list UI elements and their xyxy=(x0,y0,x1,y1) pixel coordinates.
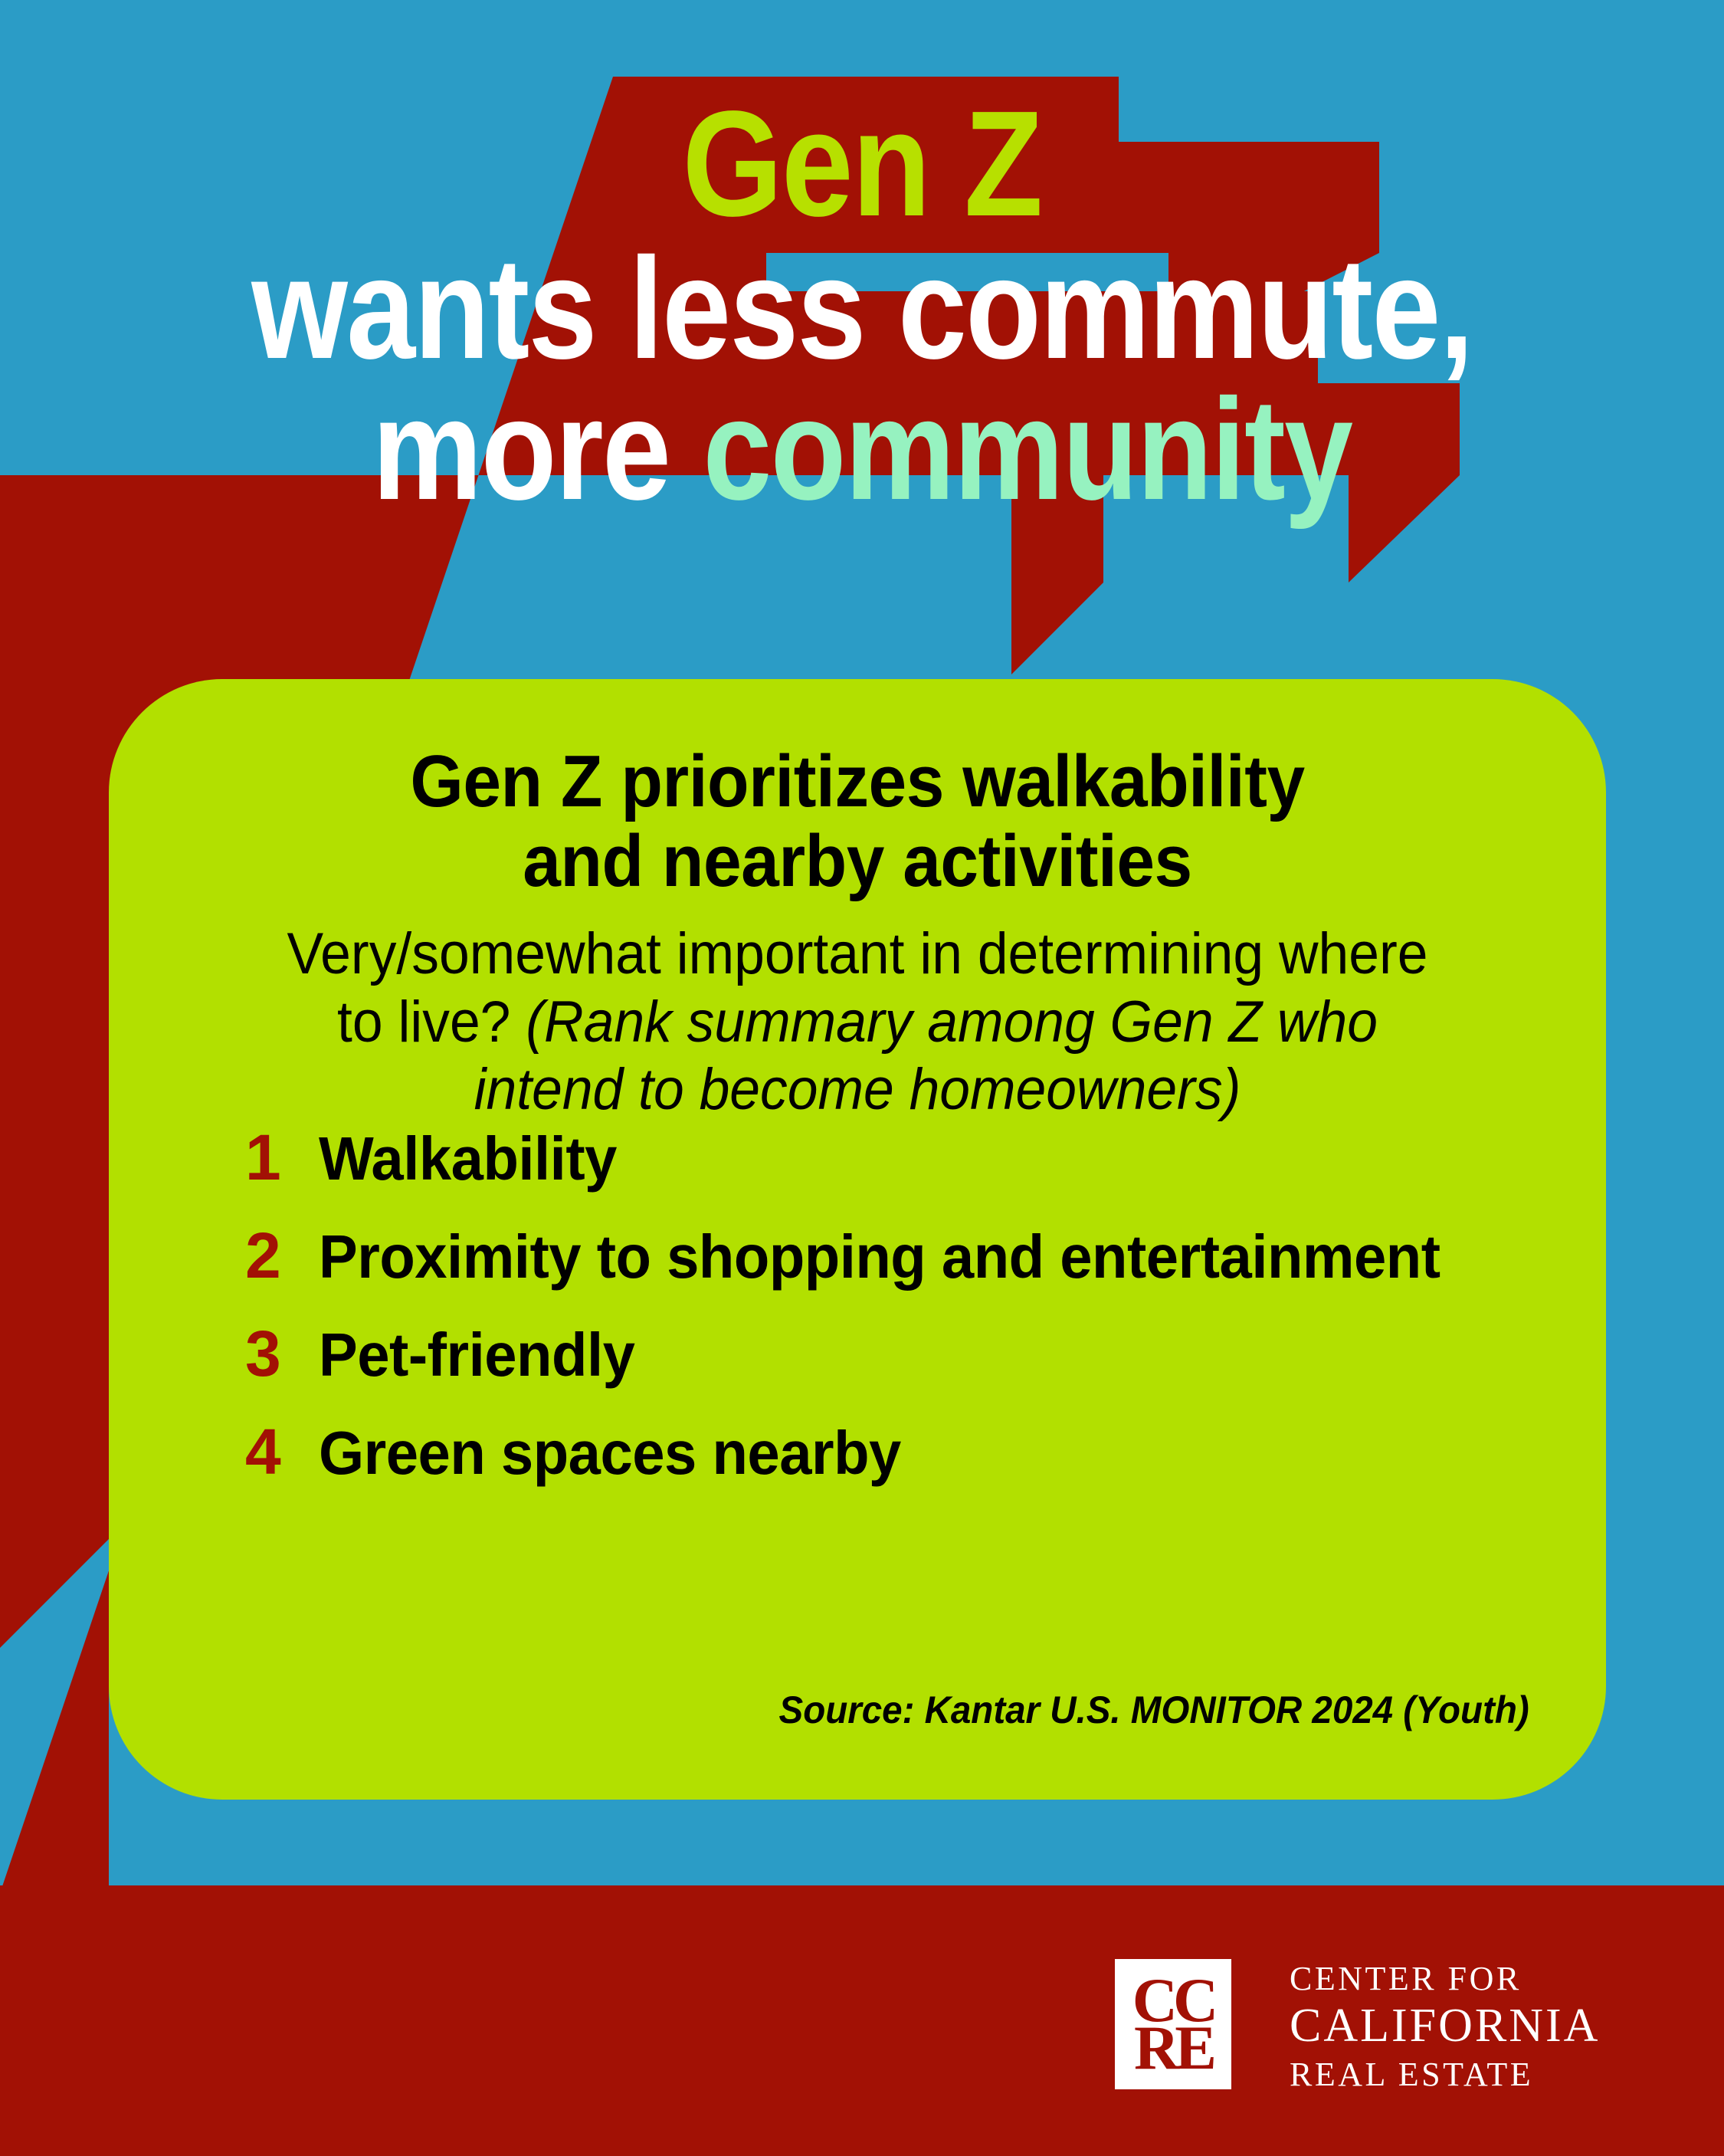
card-header-block: Gen Z prioritizes walkability and nearby… xyxy=(109,742,1606,1124)
rank-number: 4 xyxy=(245,1419,319,1484)
rank-label: Proximity to shopping and entertainment xyxy=(319,1226,1440,1288)
headline-line-commute: wants less commute, xyxy=(121,238,1604,379)
monogram-line-re: RE xyxy=(1134,2024,1212,2072)
rank-number: 1 xyxy=(245,1125,319,1190)
card-heading: Gen Z prioritizes walkability and nearby… xyxy=(217,742,1498,901)
list-item: 3 Pet-friendly xyxy=(245,1321,1529,1386)
card-subtitle-italic-a: (Rank summary among Gen Z who xyxy=(526,989,1378,1055)
ranked-list: 1 Walkability 2 Proximity to shopping an… xyxy=(245,1125,1529,1518)
page-title: Gen Z wants less commute, more community xyxy=(121,90,1604,520)
headline-word-community: community xyxy=(703,369,1352,530)
card-subtitle-line-3: intend to become homeowners) xyxy=(210,1056,1505,1124)
rank-label: Pet-friendly xyxy=(319,1324,634,1386)
list-item: 1 Walkability xyxy=(245,1125,1529,1190)
content-card: Gen Z prioritizes walkability and nearby… xyxy=(109,679,1606,1800)
logo-wordmark: CENTER FOR CALIFORNIA REAL ESTATE xyxy=(1290,1959,1600,2095)
card-subtitle-plain: to live? xyxy=(337,989,526,1055)
list-item: 2 Proximity to shopping and entertainmen… xyxy=(245,1223,1529,1288)
rank-label: Walkability xyxy=(319,1128,617,1190)
rank-label: Green spaces nearby xyxy=(319,1423,901,1484)
rank-number: 2 xyxy=(245,1223,319,1288)
infographic-poster: Gen Z wants less commute, more community… xyxy=(0,0,1724,2156)
list-item: 4 Green spaces nearby xyxy=(245,1419,1529,1484)
card-subtitle: Very/somewhat important in determining w… xyxy=(210,920,1505,1123)
ccre-logo: CC RE CENTER FOR CALIFORNIA REAL ESTATE xyxy=(1115,1959,1600,2095)
card-subtitle-line-1: Very/somewhat important in determining w… xyxy=(210,920,1505,988)
logo-line-real-estate: REAL ESTATE xyxy=(1290,2054,1600,2095)
ccre-monogram-icon: CC RE xyxy=(1115,1959,1231,2089)
card-heading-line-1: Gen Z prioritizes walkability xyxy=(217,742,1498,822)
card-heading-line-2: and nearby activities xyxy=(217,822,1498,901)
rank-number: 3 xyxy=(245,1321,319,1386)
logo-line-center-for: CENTER FOR xyxy=(1290,1959,1600,1998)
headline-word-more: more xyxy=(372,369,703,530)
logo-line-california: CALIFORNIA xyxy=(1290,1998,1600,2054)
headline-line-community: more community xyxy=(121,379,1604,520)
card-subtitle-line-2: to live? (Rank summary among Gen Z who xyxy=(210,989,1505,1056)
headline-line-gen-z: Gen Z xyxy=(121,90,1604,238)
source-note: Source: Kantar U.S. MONITOR 2024 (Youth) xyxy=(779,1688,1529,1732)
